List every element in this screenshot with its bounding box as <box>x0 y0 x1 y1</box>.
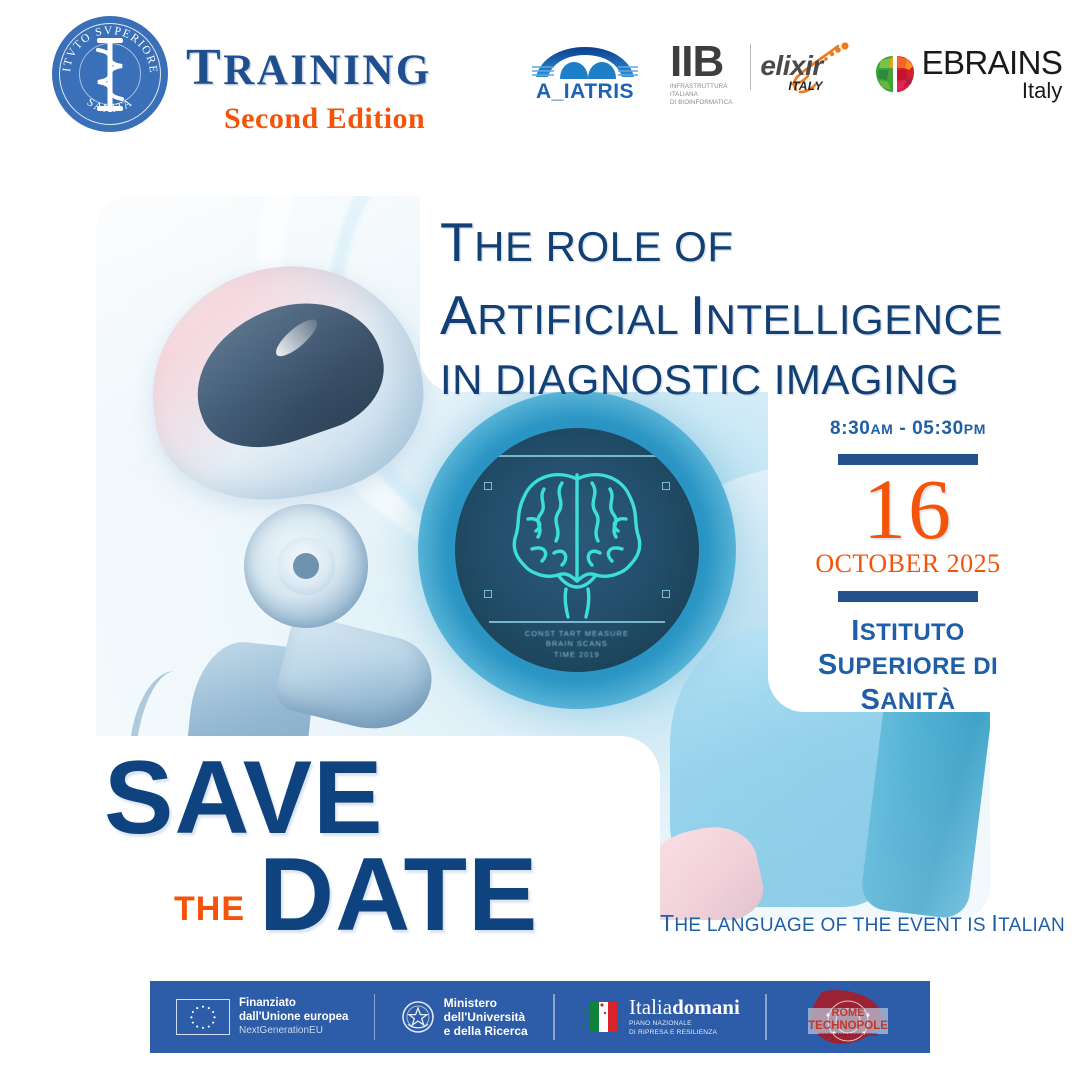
venue-line-1: ISTITUTO <box>790 614 1026 649</box>
funding-footer-banner: Finanziato dall'Unione europea NextGener… <box>150 981 930 1053</box>
partner-logo-row: A_IATRIS IIB INFRASTRUTTURA ITALIANA DI … <box>530 34 1060 114</box>
eu-flag-icon <box>176 999 230 1035</box>
eu-line-3: NextGenerationEU <box>239 1025 348 1037</box>
footer-divider-1 <box>374 994 376 1040</box>
time-start: 8:30 <box>830 418 870 439</box>
iib-divider <box>750 44 751 90</box>
title-line1-rest: HE ROLE OF <box>474 223 733 270</box>
iib-subtitle-line1: INFRASTRUTTURA ITALIANA <box>670 83 743 99</box>
ministry-logo: Ministero dell'Università e della Ricerc… <box>401 996 528 1038</box>
a-iatris-arch-icon <box>530 45 640 81</box>
training-title: TRAINING <box>186 42 432 94</box>
title-line2-cap-i: I <box>690 284 706 346</box>
ministry-text: Ministero dell'Università e della Ricerc… <box>444 996 528 1038</box>
seal-staff-bottom <box>97 106 123 111</box>
republic-emblem-icon <box>401 1000 435 1034</box>
eu-line-2: dall'Unione europea <box>239 1011 348 1024</box>
ebrains-logo: EBRAINS Italy <box>873 46 1063 102</box>
iib-elixir-logo: IIB INFRASTRUTTURA ITALIANA DI BIOINFORM… <box>670 42 843 107</box>
elixir-country-label: ITALY <box>788 79 822 93</box>
venue-line-2: SUPERIORE DI <box>790 648 1026 683</box>
training-rest: RAINING <box>223 47 432 94</box>
ebrains-brain-icon <box>873 52 917 96</box>
italian-flag-icon <box>580 999 620 1035</box>
iib-subtitle: INFRASTRUTTURA ITALIANA DI BIOINFORMATIC… <box>670 83 743 106</box>
title-line1-cap: T <box>440 211 474 273</box>
ebrains-wordmark: EBRAINS Italy <box>922 46 1063 102</box>
venue-line1-rest: STITUTO <box>860 619 965 646</box>
iib-wordmark: IIB <box>670 42 743 82</box>
the-date-row: THE DATE <box>104 851 664 940</box>
venue-line1-cap: I <box>851 615 859 647</box>
header-logo-bar: ISTITVTO SVPERIORE DI SANITA TRAINING Se… <box>0 0 1080 150</box>
italia-domani-sub: PIANO NAZIONALE DI RIPRESA E RESILIENZA <box>629 1020 740 1037</box>
elixir-italy-block: elixir ITALY <box>758 42 842 98</box>
save-the-date-block: SAVE THE DATE <box>104 754 664 941</box>
save-word: SAVE <box>104 754 664 843</box>
eu-funding-logo: Finanziato dall'Unione europea NextGener… <box>176 997 348 1036</box>
eu-line-1: Finanziato <box>239 997 348 1010</box>
rome-technopole-map-icon: ROME TECHNOPOLE INNOVATION ECOSYSTEM <box>792 988 904 1046</box>
time-end-suffix: PM <box>964 421 986 437</box>
ministry-line-1: Ministero <box>444 996 528 1010</box>
venue-line2-rest: UPERIORE DI <box>838 653 998 680</box>
training-wordmark: TRAINING Second Edition <box>186 16 432 134</box>
iib-subtitle-line2: DI BIOINFORMATICA <box>670 99 743 107</box>
elixir-wordmark: elixir <box>760 50 822 82</box>
italia-domani-sub1: PIANO NAZIONALE <box>629 1020 740 1029</box>
language-note-part1: HE LANGUAGE OF THE EVENT IS <box>674 915 991 936</box>
domani-word: domani <box>672 995 740 1019</box>
venue-line-3: SANITÀ <box>790 683 1026 718</box>
a-iatris-logo: A_IATRIS <box>530 45 640 104</box>
italia-word: Italia <box>629 995 672 1019</box>
page-title: THE ROLE OF ARTIFICIAL INTELLIGENCE IN D… <box>440 206 1020 408</box>
rome-technopole-logo: ROME TECHNOPOLE INNOVATION ECOSYSTEM <box>792 988 904 1046</box>
italia-domani-sub2: DI RIPRESA E RESILIENZA <box>629 1029 740 1038</box>
ministry-line-2: dell'Università <box>444 1010 528 1024</box>
venue-line2-cap: S <box>818 649 838 681</box>
a-iatris-label: A_IATRIS <box>530 80 640 104</box>
event-month-year: OCTOBER 2025 <box>790 549 1026 579</box>
title-line2-mid: RTIFICIAL <box>477 296 690 343</box>
title-line2-end: NTELLIGENCE <box>706 296 1003 343</box>
seal-serpent-icon <box>93 44 127 106</box>
time-dash: - <box>893 418 912 439</box>
istituto-superiore-sanita-seal-icon: ISTITVTO SVPERIORE DI SANITA <box>52 16 168 132</box>
italia-domani-text: Italiadomani PIANO NAZIONALE DI RIPRESA … <box>629 996 740 1037</box>
the-word: THE <box>174 890 245 929</box>
language-note-cap1: T <box>660 910 674 936</box>
iib-block: IIB INFRASTRUTTURA ITALIANA DI BIOINFORM… <box>670 42 743 107</box>
date-word: DATE <box>259 851 538 940</box>
time-start-suffix: AM <box>870 421 893 437</box>
ebrains-country: Italy <box>922 80 1063 102</box>
iss-training-lockup: ISTITVTO SVPERIORE DI SANITA TRAINING Se… <box>52 16 432 134</box>
venue-line3-cap: S <box>860 684 880 716</box>
training-cap: T <box>186 39 223 96</box>
event-time: 8:30AM - 05:30PM <box>790 418 1026 440</box>
italia-domani-logo: Italiadomani PIANO NAZIONALE DI RIPRESA … <box>580 996 740 1037</box>
title-line-2: ARTIFICIAL INTELLIGENCE <box>440 279 1020 352</box>
divider-bottom <box>838 591 978 602</box>
ebrains-name: EBRAINS <box>922 46 1063 79</box>
event-day: 16 <box>790 469 1026 551</box>
language-note: THE LANGUAGE OF THE EVENT IS ITALIAN <box>660 910 1020 937</box>
footer-divider-2 <box>553 994 555 1040</box>
eu-funding-text: Finanziato dall'Unione europea NextGener… <box>239 997 348 1036</box>
italia-domani-name: Italiadomani <box>629 996 740 1018</box>
edition-label: Second Edition <box>224 104 432 134</box>
svg-text:TECHNOPOLE: TECHNOPOLE <box>808 1020 888 1032</box>
event-venue: ISTITUTO SUPERIORE DI SANITÀ <box>790 614 1026 718</box>
time-end: 05:30 <box>912 418 964 439</box>
language-note-part2: TALIAN <box>998 915 1065 936</box>
title-line2-cap-a: A <box>440 284 477 346</box>
title-line-1: THE ROLE OF <box>440 206 1020 279</box>
title-line-3: IN DIAGNOSTIC IMAGING <box>440 352 1020 408</box>
svg-text:INNOVATION ECOSYSTEM: INNOVATION ECOSYSTEM <box>819 1032 877 1037</box>
footer-divider-3 <box>765 994 767 1040</box>
eu-stars <box>177 1000 229 1035</box>
svg-text:ROME: ROME <box>832 1007 865 1019</box>
event-details-column: 8:30AM - 05:30PM 16 OCTOBER 2025 ISTITUT… <box>790 418 1026 718</box>
venue-line3-rest: ANITÀ <box>880 688 955 715</box>
ministry-line-3: e della Ricerca <box>444 1024 528 1038</box>
